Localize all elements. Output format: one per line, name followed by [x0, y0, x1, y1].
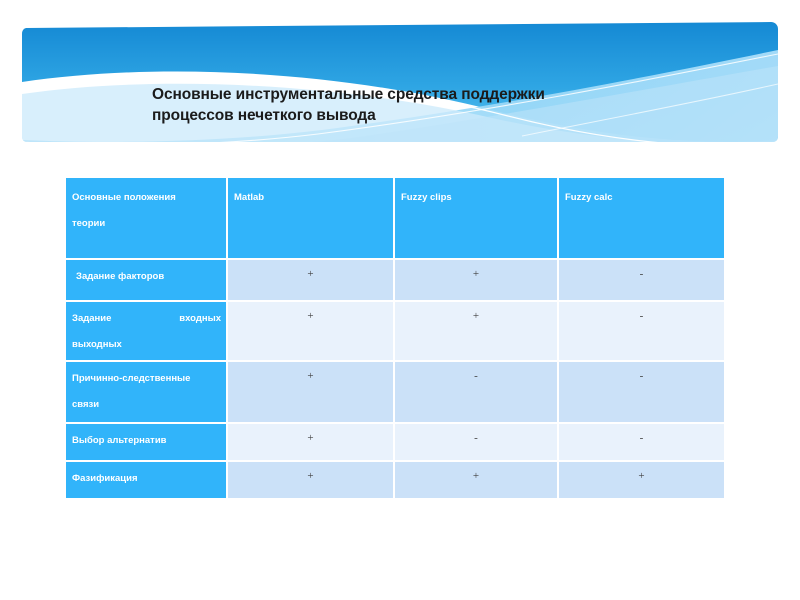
column-header-fuzzy-calc: Fuzzy calc — [559, 178, 724, 260]
cell-matlab: + — [228, 362, 395, 424]
cell-value: + — [395, 302, 557, 322]
cell-value: - — [559, 424, 724, 444]
column-header-fuzzy-calc-label: Fuzzy calc — [565, 192, 613, 203]
table-row: Фазификация + + + — [66, 462, 724, 500]
column-header-matlab-label: Matlab — [234, 192, 264, 203]
row-label-text: Выбор альтернатив — [72, 435, 167, 446]
cell-value: + — [395, 462, 557, 482]
cell-fuzzy-clips: + — [395, 462, 559, 500]
cell-fuzzy-calc: + — [559, 462, 724, 500]
cell-matlab: + — [228, 424, 395, 462]
row-label-text: Фазификация — [72, 473, 137, 484]
slide-canvas: Основные инструментальные средства подде… — [0, 0, 800, 600]
cell-value: - — [559, 302, 724, 322]
row-label-text: Задание факторов — [76, 271, 164, 282]
cell-value: + — [559, 462, 724, 482]
cell-fuzzy-clips: - — [395, 362, 559, 424]
cell-value: - — [559, 362, 724, 382]
cell-value: - — [395, 424, 557, 444]
column-header-matlab: Matlab — [228, 178, 395, 260]
cell-matlab: + — [228, 302, 395, 362]
table-row: Выбор альтернатив + - - — [66, 424, 724, 462]
table-row: Причинно-следственные связи + - - — [66, 362, 724, 424]
row-label-cell: Задание факторов — [66, 260, 228, 302]
row-label-cell: Задание входных выходных — [66, 302, 228, 362]
table-header-row: Основные положения теории Matlab Fuzzy c… — [66, 178, 724, 260]
table-row: Задание входных выходных + + - — [66, 302, 724, 362]
cell-value: - — [395, 362, 557, 382]
row-label-text: Задание входных — [72, 313, 221, 324]
cell-value: + — [228, 362, 393, 382]
tool-comparison-table: Основные положения теории Matlab Fuzzy c… — [66, 178, 724, 500]
cell-matlab: + — [228, 462, 395, 500]
cell-fuzzy-clips: - — [395, 424, 559, 462]
cell-fuzzy-calc: - — [559, 260, 724, 302]
cell-fuzzy-calc: - — [559, 424, 724, 462]
column-header-fuzzy-clips-label: Fuzzy clips — [401, 192, 452, 203]
row-label-text-line2: выходных — [72, 332, 221, 358]
column-header-theory-line2: теории — [72, 211, 226, 237]
cell-value: + — [395, 260, 557, 280]
column-header-theory-line1: Основные положения — [72, 192, 176, 203]
row-label-text-line2: связи — [72, 392, 221, 418]
slide-title: Основные инструментальные средства подде… — [152, 84, 672, 126]
cell-value: - — [559, 260, 724, 280]
cell-value: + — [228, 302, 393, 322]
cell-value: + — [228, 462, 393, 482]
cell-value: + — [228, 260, 393, 280]
row-label-cell: Фазификация — [66, 462, 228, 500]
column-header-fuzzy-clips: Fuzzy clips — [395, 178, 559, 260]
cell-fuzzy-calc: - — [559, 302, 724, 362]
row-label-text: Причинно-следственные — [72, 373, 190, 384]
row-label-cell: Выбор альтернатив — [66, 424, 228, 462]
slide-title-line-1: Основные инструментальные средства подде… — [152, 84, 672, 105]
cell-value: + — [228, 424, 393, 444]
cell-matlab: + — [228, 260, 395, 302]
slide-title-line-2: процессов нечеткого вывода — [152, 105, 672, 126]
cell-fuzzy-clips: + — [395, 302, 559, 362]
cell-fuzzy-clips: + — [395, 260, 559, 302]
row-label-cell: Причинно-следственные связи — [66, 362, 228, 424]
table-row: Задание факторов + + - — [66, 260, 724, 302]
column-header-theory: Основные положения теории — [66, 178, 228, 260]
cell-fuzzy-calc: - — [559, 362, 724, 424]
